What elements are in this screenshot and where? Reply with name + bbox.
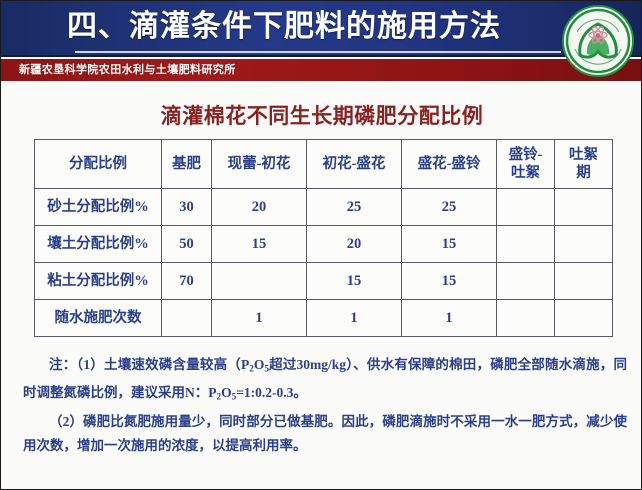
table-row: 砂土分配比例% 30 20 25 25 (35, 189, 613, 226)
cell-value (497, 189, 555, 226)
table-row: 壤土分配比例% 50 15 20 15 (35, 226, 613, 263)
institute-name: 新疆农垦科学院农田水利与土壤肥料研究所 (19, 60, 236, 80)
row-label: 壤土分配比例% (35, 226, 162, 263)
cell-value: 15 (212, 226, 307, 263)
slide-canvas: 四、滴灌条件下肥料的施用方法 新疆农垦科学院农田水利与土壤肥料研究所 滴灌棉花不… (0, 0, 642, 490)
cell-value: 20 (212, 189, 307, 226)
cell-value: 25 (307, 189, 402, 226)
column-header-first-flower-to-full-bloom: 初花-盛花 (307, 140, 402, 189)
page-title: 四、滴灌条件下肥料的施用方法 (1, 4, 567, 50)
header-line-2: 吐絮 (511, 165, 540, 181)
table-title: 滴灌棉花不同生长期磷肥分配比例 (1, 100, 642, 130)
cell-value (555, 189, 613, 226)
header-line-1: 吐絮 (569, 147, 598, 163)
table-header-row: 分配比例 基肥 现蕾-初花 初花-盛花 盛花-盛铃 盛铃- 吐絮 吐絮 期 (35, 140, 613, 189)
phosphorus-distribution-table: 分配比例 基肥 现蕾-初花 初花-盛花 盛花-盛铃 盛铃- 吐絮 吐絮 期 砂土… (34, 139, 613, 337)
cell-value: 15 (402, 263, 497, 300)
cell-value: 1 (212, 300, 307, 337)
cell-value (555, 263, 613, 300)
table-row: 粘土分配比例% 70 15 15 (35, 263, 613, 300)
column-header-base-fertilizer: 基肥 (162, 140, 212, 189)
cell-value (555, 226, 613, 263)
cell-value (497, 300, 555, 337)
column-header-full-bloom-to-full-boll: 盛花-盛铃 (402, 140, 497, 189)
column-header-squaring-to-first-flower: 现蕾-初花 (212, 140, 307, 189)
note1-part-b: O (254, 357, 265, 372)
cell-value: 30 (162, 189, 212, 226)
cell-value (555, 300, 613, 337)
row-label: 随水施肥次数 (35, 300, 162, 337)
row-label: 粘土分配比例% (35, 263, 162, 300)
cell-value (212, 263, 307, 300)
notes-block: 注：（1）土壤速效磷含量较高（P2O5超过30mg/kg）、供水有保障的棉田，磷… (23, 353, 627, 460)
header-line-1: 盛铃- (509, 147, 543, 163)
cell-value: 15 (307, 263, 402, 300)
cell-value: 20 (307, 226, 402, 263)
table-row: 随水施肥次数 1 1 1 (35, 300, 613, 337)
column-header-ratio: 分配比例 (35, 140, 162, 189)
cell-value: 50 (162, 226, 212, 263)
note1-part-a: 注：（1）土壤速效磷含量较高（P (49, 357, 249, 372)
cell-value: 1 (402, 300, 497, 337)
cell-value: 70 (162, 263, 212, 300)
title-underline (75, 51, 561, 53)
cell-value: 1 (307, 300, 402, 337)
table-body: 砂土分配比例% 30 20 25 25 壤土分配比例% 50 15 20 15 … (35, 189, 613, 337)
cell-value: 25 (402, 189, 497, 226)
academy-emblem-icon (561, 2, 635, 80)
column-header-boll-opening-stage: 吐絮 期 (555, 140, 613, 189)
cell-value (497, 263, 555, 300)
cell-value (497, 226, 555, 263)
cell-value (162, 300, 212, 337)
note-item-1: 注：（1）土壤速效磷含量较高（P2O5超过30mg/kg）、供水有保障的棉田，磷… (23, 353, 627, 408)
note1-part-d: O (221, 385, 232, 400)
row-label: 砂土分配比例% (35, 189, 162, 226)
header-line-2: 期 (576, 165, 591, 181)
cell-value: 15 (402, 226, 497, 263)
note-item-2: （2）磷肥比氮肥施用量少，同时部分已做基肥。因此，磷肥滴施时不采用一水一肥方式，… (23, 410, 627, 458)
note1-part-e: =1:0.2-0.3。 (236, 385, 307, 400)
column-header-full-boll-to-boll-opening: 盛铃- 吐絮 (497, 140, 555, 189)
